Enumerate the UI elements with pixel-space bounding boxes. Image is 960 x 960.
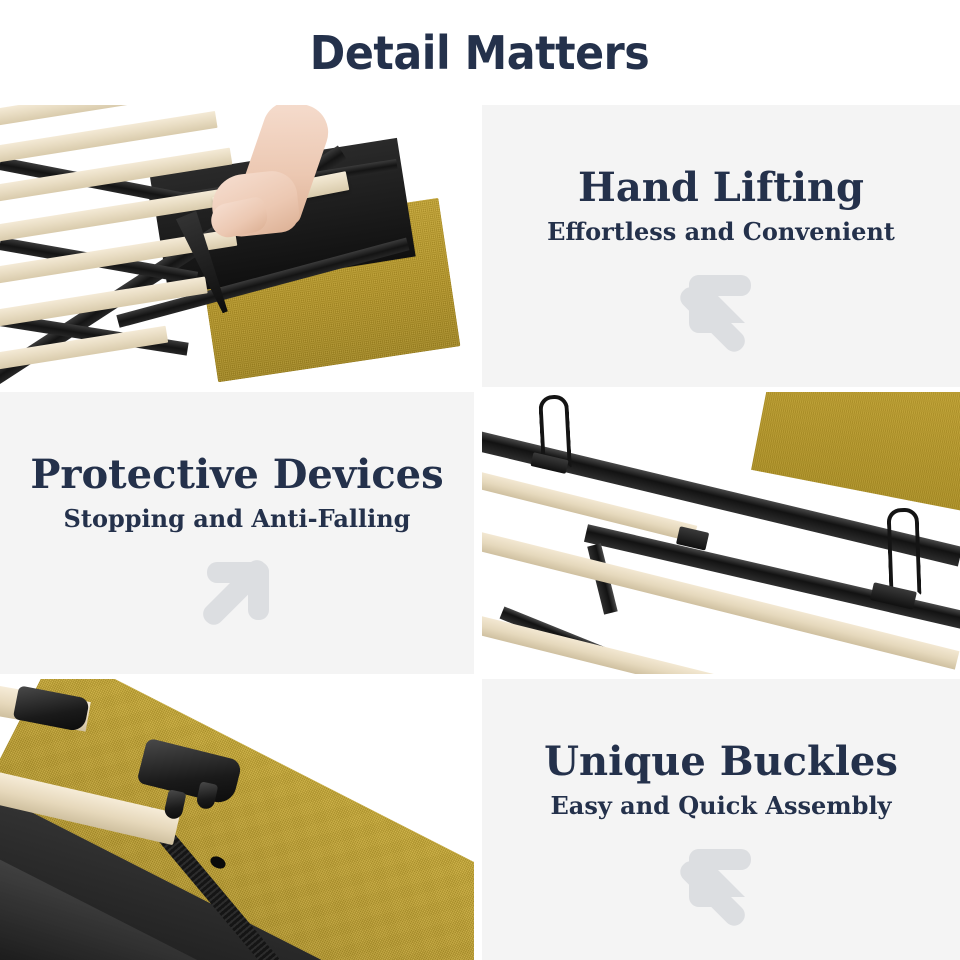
feature-title-hand-lifting: Hand Lifting <box>482 167 960 209</box>
arrow-up-left-icon <box>673 267 769 353</box>
feature-title-protective-devices: Protective Devices <box>0 454 474 496</box>
feature-title-unique-buckles: Unique Buckles <box>482 741 960 783</box>
hand-lifting-scene <box>0 105 474 387</box>
wire-stopper-right <box>886 507 921 596</box>
feature-photo-unique-buckles <box>0 679 474 960</box>
arrow-container <box>482 267 960 353</box>
feature-photo-protective-devices <box>482 392 960 674</box>
protective-devices-scene <box>482 392 960 674</box>
unique-buckles-scene <box>0 679 474 960</box>
arrow-up-left-icon <box>673 841 769 927</box>
page-header: Detail Matters <box>0 0 960 105</box>
infographic-page: Detail Matters <box>0 0 960 960</box>
page-title: Detail Matters <box>310 30 649 76</box>
feature-grid: Hand Lifting Effortless and Convenient <box>0 105 960 960</box>
feature-text-hand-lifting: Hand Lifting Effortless and Convenient <box>482 105 960 387</box>
arrow-container <box>0 554 474 640</box>
feature-text-protective-devices: Protective Devices Stopping and Anti-Fal… <box>0 392 474 674</box>
arrow-container <box>482 841 960 927</box>
feature-photo-hand-lifting <box>0 105 474 387</box>
feature-subtitle-unique-buckles: Easy and Quick Assembly <box>482 792 960 821</box>
feature-subtitle-protective-devices: Stopping and Anti-Falling <box>0 505 474 534</box>
arrow-up-right-icon <box>189 554 285 640</box>
feature-subtitle-hand-lifting: Effortless and Convenient <box>482 218 960 247</box>
feature-text-unique-buckles: Unique Buckles Easy and Quick Assembly <box>482 679 960 960</box>
